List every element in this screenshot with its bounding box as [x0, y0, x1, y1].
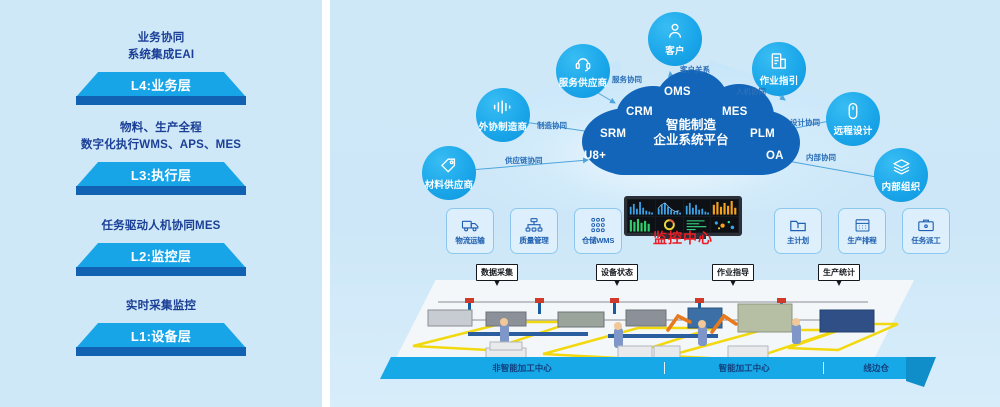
architecture-layers-panel: 业务协同 系统集成EAI L4:业务层 物料、生产全程 数字化执行WMS、APS…: [0, 0, 322, 407]
layer-caption-l4: 业务协同 系统集成EAI: [0, 30, 322, 64]
cloud-center-title: 智能制造 企业系统平台: [612, 118, 770, 148]
caption-line: 任务驱动人机协同MES: [0, 218, 322, 235]
chip-label: 任务派工: [911, 235, 940, 246]
layer-group-l1: 实时采集监控 L1:设备层: [0, 298, 322, 357]
connector-label-design-collaboration: 设计协同: [790, 117, 820, 128]
chip-warehouse-wms[interactable]: 仓储WMS: [574, 208, 622, 254]
callout-work-guidance[interactable]: 作业指导: [712, 264, 754, 281]
connector-label-internal-collaboration: 内部协同: [806, 152, 836, 163]
node-label: 远程设计: [834, 123, 873, 137]
node-outsourced-manufacturer[interactable]: 外协制造商: [476, 88, 530, 142]
chip-label: 物流运输: [455, 235, 484, 246]
node-label: 材料供应商: [425, 177, 474, 191]
zone-label-line-side-store[interactable]: 线边仓: [824, 362, 928, 374]
chip-production-scheduling[interactable]: 生产排程: [838, 208, 886, 254]
dashboard-cell: [628, 200, 655, 216]
tier-l1[interactable]: L1:设备层: [76, 323, 246, 357]
node-label: 服务供应商: [559, 75, 608, 89]
chip-logistics-transport[interactable]: 物流运输: [446, 208, 494, 254]
tier-base-bar: [76, 267, 246, 276]
layer-group-l3: 物料、生产全程 数字化执行WMS、APS、MES L3:执行层: [0, 120, 322, 196]
node-label: 客户: [665, 43, 684, 57]
hierarchy-icon: [525, 217, 543, 233]
layers-icon: [891, 157, 912, 177]
truck-icon: [461, 217, 480, 233]
tier-label-l4: L4:业务层: [76, 75, 246, 94]
panel-divider: [322, 0, 330, 407]
layer-caption-l3: 物料、生产全程 数字化执行WMS、APS、MES: [0, 120, 322, 154]
layer-caption-l2: 任务驱动人机协同MES: [0, 218, 322, 235]
chip-label: 生产排程: [847, 235, 876, 246]
tier-l4[interactable]: L4:业务层: [76, 72, 246, 106]
cloud-module-mes[interactable]: MES: [722, 106, 748, 118]
tag-icon: [439, 155, 459, 175]
connector-label-manufacturing-collaboration: 制造协同: [537, 120, 567, 131]
callout-equipment-status[interactable]: 设备状态: [596, 264, 638, 281]
tier-base-bar: [76, 186, 246, 195]
node-label: 外协制造商: [479, 119, 528, 133]
caption-line: 实时采集监控: [0, 298, 322, 315]
caption-line: 数字化执行WMS、APS、MES: [0, 137, 322, 154]
node-service-supplier[interactable]: 服务供应商: [556, 44, 610, 98]
connector-label-human-machine-collaboration: 人机协同: [736, 86, 766, 97]
connector-label-customer-relationship: 客户关系: [680, 64, 710, 75]
folder-icon: [789, 217, 807, 233]
chip-quality-management[interactable]: 质量管理: [510, 208, 558, 254]
person-icon: [665, 21, 685, 41]
cloud-module-crm[interactable]: CRM: [626, 106, 653, 118]
calendar-icon: [854, 217, 871, 233]
chip-master-plan[interactable]: 主计划: [774, 208, 822, 254]
tier-label-l2: L2:监控层: [76, 246, 246, 265]
cloud-module-srm[interactable]: SRM: [600, 128, 626, 140]
zone-label-row: 非智能加工中心 智能加工中心 线边仓: [380, 357, 928, 379]
waveform-icon: [492, 97, 514, 117]
caption-line: 物料、生产全程: [0, 120, 322, 137]
chip-label: 质量管理: [519, 235, 548, 246]
node-internal-organization[interactable]: 内部组织: [874, 148, 928, 202]
shop-floor-illustration: 数据采集 设备状态 作业指导 生产统计 非智能加工中心 智能加工中心 线边仓: [368, 262, 968, 397]
tier-label-l3: L3:执行层: [76, 165, 246, 184]
cloud-module-oa[interactable]: OA: [766, 150, 784, 162]
callout-data-collection[interactable]: 数据采集: [476, 264, 518, 281]
cloud-title-line: 企业系统平台: [612, 133, 770, 148]
headset-icon: [573, 53, 593, 73]
cloud-title-line: 智能制造: [612, 118, 770, 133]
cloud-module-oms[interactable]: OMS: [664, 86, 691, 98]
layer-group-l4: 业务协同 系统集成EAI L4:业务层: [0, 30, 322, 106]
layer-caption-l1: 实时采集监控: [0, 298, 322, 315]
chip-label: 仓储WMS: [582, 235, 614, 246]
zone-label-non-smart-center[interactable]: 非智能加工中心: [380, 362, 665, 374]
node-customer[interactable]: 客户: [648, 12, 702, 66]
mouse-icon: [843, 101, 863, 121]
monitoring-center-title: 监控中心: [612, 228, 754, 248]
tier-base-bar: [76, 96, 246, 105]
cloud-module-u8plus[interactable]: U8+: [584, 150, 606, 162]
tier-l2[interactable]: L2:监控层: [76, 243, 246, 277]
callout-production-stats[interactable]: 生产统计: [818, 264, 860, 281]
cloud-module-plm[interactable]: PLM: [750, 128, 775, 140]
zone-label-smart-center[interactable]: 智能加工中心: [665, 362, 824, 374]
dots-grid-icon: [589, 217, 607, 233]
dashboard-cell: [684, 200, 711, 216]
tier-label-l1: L1:设备层: [76, 326, 246, 345]
tier-l3[interactable]: L3:执行层: [76, 162, 246, 196]
caption-line: 系统集成EAI: [0, 47, 322, 64]
connector-label-supply-chain-collaboration: 供应链协同: [505, 155, 543, 166]
chip-task-dispatch[interactable]: 任务派工: [902, 208, 950, 254]
node-label: 作业指引: [760, 73, 799, 87]
dashboard-cell: [711, 200, 738, 216]
layer-group-l2: 任务驱动人机协同MES L2:监控层: [0, 218, 322, 277]
node-label: 内部组织: [882, 179, 921, 193]
tier-base-bar: [76, 347, 246, 356]
chip-label: 主计划: [787, 235, 809, 246]
connector-label-service-collaboration: 服务协同: [612, 74, 642, 85]
document-icon: [769, 51, 789, 71]
node-material-supplier[interactable]: 材料供应商: [422, 146, 476, 200]
node-remote-design[interactable]: 远程设计: [826, 92, 880, 146]
dashboard-cell: [656, 200, 683, 216]
briefcase-icon: [917, 217, 935, 233]
caption-line: 业务协同: [0, 30, 322, 47]
